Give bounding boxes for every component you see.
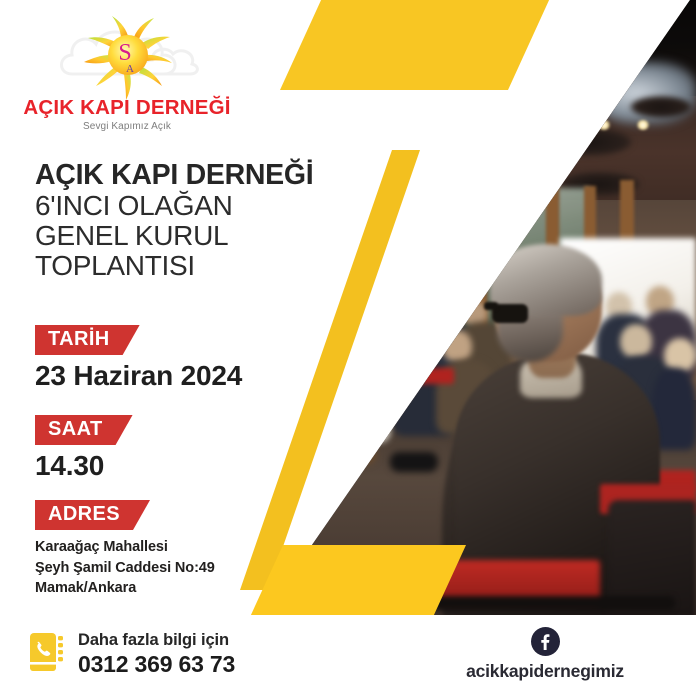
time-block: SAAT 14.30: [35, 415, 133, 482]
headline-line-4: TOPLANTISI: [35, 251, 405, 281]
contact-phone[interactable]: 0312 369 63 73: [78, 651, 235, 678]
headline-line-1: AÇIK KAPI DERNEĞİ: [35, 160, 405, 191]
svg-text:A: A: [126, 63, 134, 75]
address-label: ADRES: [35, 500, 150, 530]
date-block: TARİH 23 Haziran 2024: [35, 325, 242, 392]
time-value: 14.30: [35, 450, 133, 482]
social-handle[interactable]: acikkapidernegimiz: [430, 661, 660, 682]
logo-tagline: Sevgi Kapımız Açık: [22, 121, 232, 132]
contact-caption: Daha fazla bilgi için: [78, 631, 235, 650]
contact-group: Daha fazla bilgi için 0312 369 63 73: [30, 631, 235, 678]
social-group[interactable]: acikkapidernegimiz: [430, 627, 660, 682]
address-line: Karaağaç Mahallesi: [35, 537, 215, 558]
time-label: SAAT: [35, 415, 133, 445]
address-line: Şeyh Şamil Caddesi No:49: [35, 558, 215, 579]
date-value: 23 Haziran 2024: [35, 360, 242, 392]
address-block: ADRES Karaağaç Mahallesi Şeyh Şamil Cadd…: [35, 500, 215, 599]
organization-logo: S A AÇIK KAPI DERNEĞİ Sevgi Kapımız Açık: [22, 10, 232, 132]
event-poster: S A AÇIK KAPI DERNEĞİ Sevgi Kapımız Açık…: [0, 0, 696, 696]
sun-icon: S A: [82, 14, 174, 102]
poster-content: AÇIK KAPI DERNEĞİ 6'INCI OLAĞAN GENEL KU…: [35, 160, 405, 281]
address-line: Mamak/Ankara: [35, 578, 215, 599]
headline-line-2: 6'INCI OLAĞAN: [35, 191, 405, 221]
date-label: TARİH: [35, 325, 140, 355]
poster-footer: Daha fazla bilgi için 0312 369 63 73 aci…: [0, 617, 696, 696]
phonebook-icon: [30, 633, 66, 677]
headline-line-3: GENEL KURUL: [35, 221, 405, 251]
facebook-icon[interactable]: [531, 627, 560, 656]
yellow-shape-top: [280, 0, 550, 90]
yellow-shape-bottom: [250, 545, 466, 617]
